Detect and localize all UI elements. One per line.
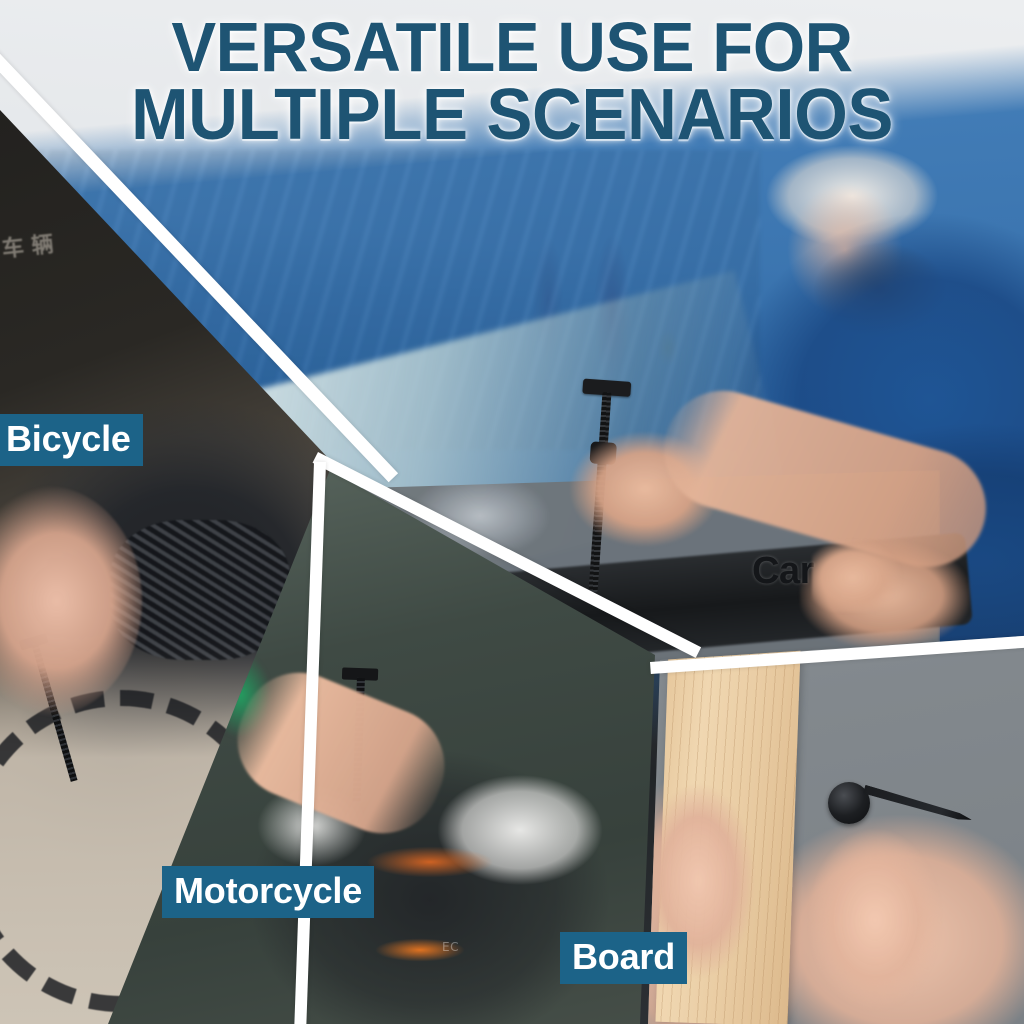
label-badge-board: Board <box>560 932 687 984</box>
photo-watermark: EC <box>442 940 459 954</box>
label-badge-motorcycle: Motorcycle <box>162 866 374 918</box>
product-feature-collage: 车 辆 EC VERSATILE USE FOR MULT <box>0 0 1024 1024</box>
cable-tie-push-pin-head <box>828 782 870 824</box>
label-badge-bicycle: Bicycle <box>0 414 143 466</box>
label-text-car: Car <box>752 550 814 593</box>
right-hand-fingers <box>800 820 950 1020</box>
hand-occluding-car-label <box>812 540 904 612</box>
background-signage: 车 辆 <box>1 233 55 261</box>
